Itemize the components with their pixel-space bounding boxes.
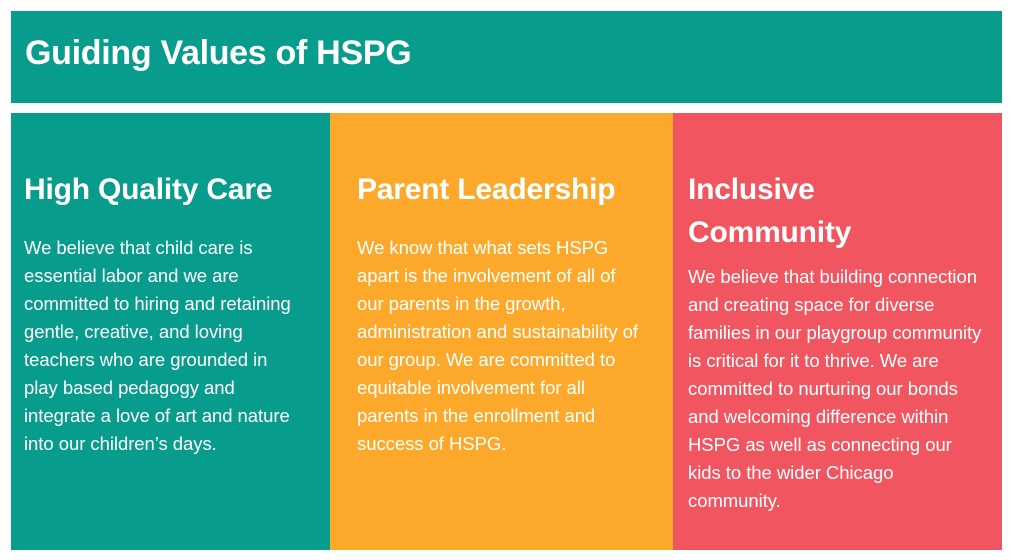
values-columns: High Quality Care We believe that child … [11,113,1002,550]
header-banner: Guiding Values of HSPG [11,11,1002,103]
value-card-inclusive-community: Inclusive Community We believe that buil… [673,113,1002,550]
value-card-body: We know that what sets HSPG apart is the… [357,234,647,458]
slide-canvas: Guiding Values of HSPG High Quality Care… [0,0,1012,560]
value-card-parent-leadership: Parent Leadership We know that what sets… [330,113,673,550]
value-card-heading: Parent Leadership [357,168,647,211]
value-card-body: We believe that child care is essential … [24,234,304,458]
value-card-heading: Inclusive Community [688,168,982,254]
value-card-body: We believe that building connection and … [688,263,982,515]
page-title: Guiding Values of HSPG [25,31,411,75]
value-card-heading: High Quality Care [24,168,304,211]
value-card-high-quality-care: High Quality Care We believe that child … [11,113,330,550]
